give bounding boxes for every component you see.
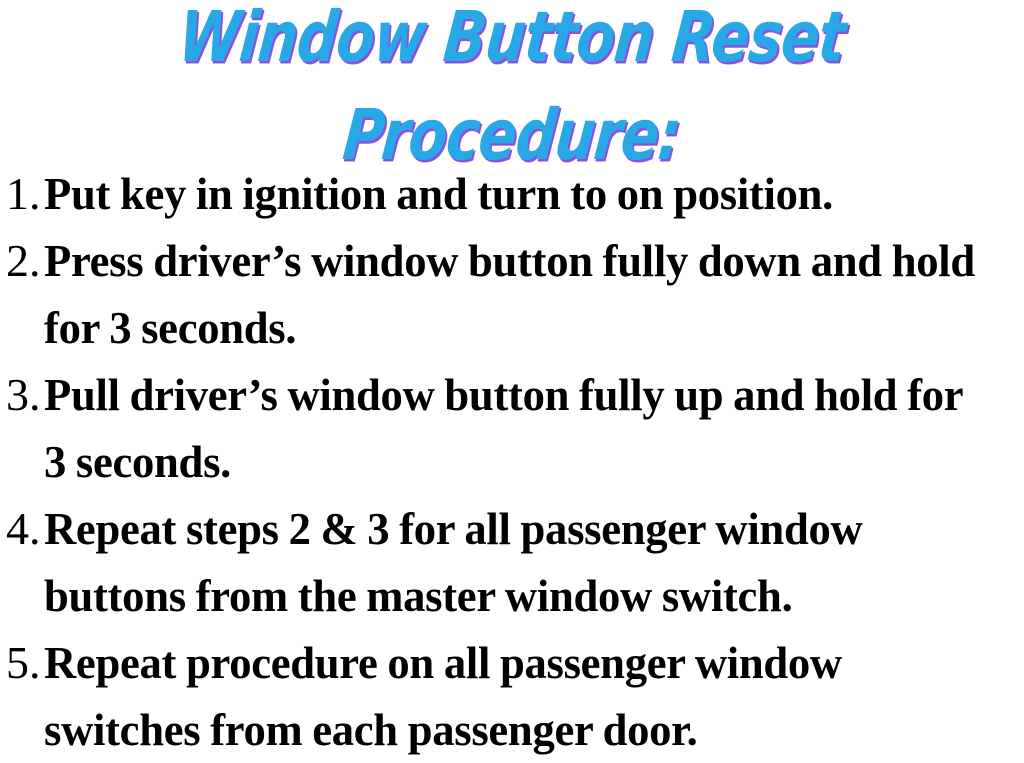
procedure-step-list: 1. Put key in ignition and turn to on po… [0,160,1024,763]
step-text: Repeat procedure on all passenger window… [44,629,995,763]
step-number: 1. [0,160,44,227]
step-text: Put key in ignition and turn to on posit… [44,160,995,227]
list-item: 4. Repeat steps 2 & 3 for all passenger … [0,495,1024,629]
title-line-1: Window Button Reset [99,2,925,72]
step-number: 3. [0,361,44,428]
list-item: 3. Pull driver’s window button fully up … [0,361,1024,495]
step-number: 5. [0,629,44,696]
list-item: 2. Press driver’s window button fully do… [0,227,1024,361]
step-text: Press driver’s window button fully down … [44,227,995,361]
step-text: Pull driver’s window button fully up and… [44,361,995,495]
list-item: 1. Put key in ignition and turn to on po… [0,160,1024,227]
step-number: 2. [0,227,44,294]
step-text: Repeat steps 2 & 3 for all passenger win… [44,495,995,629]
step-number: 4. [0,495,44,562]
title-block: Window Button Reset Procedure: [0,2,1024,170]
list-item: 5. Repeat procedure on all passenger win… [0,629,1024,763]
